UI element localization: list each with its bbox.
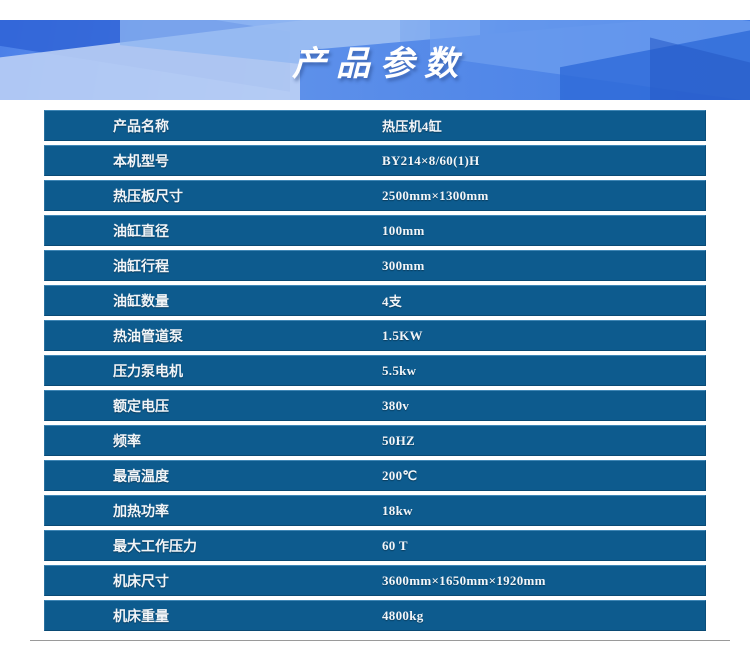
spec-label: 油缸数量 [45, 291, 370, 311]
spec-value: 1.5KW [370, 328, 705, 344]
table-row: 机床重量4800kg [44, 600, 706, 631]
spec-value: 60 T [370, 538, 705, 554]
spec-value: 2500mm×1300mm [370, 188, 705, 204]
spec-value: 4800kg [370, 608, 705, 624]
spec-value: 50HZ [370, 433, 705, 449]
table-row: 油缸行程300mm [44, 250, 706, 281]
spec-value: BY214×8/60(1)H [370, 153, 705, 169]
spec-label: 最高温度 [45, 466, 370, 486]
spec-value: 4支 [370, 291, 705, 310]
spec-value: 18kw [370, 503, 705, 519]
spec-label: 最大工作压力 [45, 536, 370, 556]
specification-table: 产品名称热压机4缸本机型号BY214×8/60(1)H热压板尺寸2500mm×1… [44, 110, 706, 635]
page-title: 产品参数 [0, 20, 750, 100]
table-row: 机床尺寸3600mm×1650mm×1920mm [44, 565, 706, 596]
table-row: 热油管道泵1.5KW [44, 320, 706, 351]
spec-value: 300mm [370, 258, 705, 274]
table-row: 本机型号BY214×8/60(1)H [44, 145, 706, 176]
spec-label: 额定电压 [45, 396, 370, 416]
spec-value: 100mm [370, 223, 705, 239]
table-row: 最高温度200℃ [44, 460, 706, 491]
spec-value: 5.5kw [370, 363, 705, 379]
spec-label: 油缸行程 [45, 256, 370, 276]
spec-value: 380v [370, 398, 705, 414]
spec-label: 加热功率 [45, 501, 370, 521]
table-row: 压力泵电机5.5kw [44, 355, 706, 386]
spec-label: 热油管道泵 [45, 326, 370, 346]
bottom-divider [30, 640, 730, 641]
page-banner: 产品参数 [0, 20, 750, 100]
table-row: 加热功率18kw [44, 495, 706, 526]
spec-label: 热压板尺寸 [45, 186, 370, 206]
product-parameters-page: 产品参数 产品名称热压机4缸本机型号BY214×8/60(1)H热压板尺寸250… [0, 0, 750, 649]
table-row: 频率50HZ [44, 425, 706, 456]
spec-label: 油缸直径 [45, 221, 370, 241]
table-row: 油缸数量4支 [44, 285, 706, 316]
spec-value: 3600mm×1650mm×1920mm [370, 573, 705, 589]
table-row: 最大工作压力60 T [44, 530, 706, 561]
table-row: 热压板尺寸2500mm×1300mm [44, 180, 706, 211]
spec-label: 本机型号 [45, 151, 370, 171]
spec-label: 机床尺寸 [45, 571, 370, 591]
table-row: 额定电压380v [44, 390, 706, 421]
table-row: 产品名称热压机4缸 [44, 110, 706, 141]
spec-label: 频率 [45, 431, 370, 451]
spec-label: 压力泵电机 [45, 361, 370, 381]
spec-label: 机床重量 [45, 606, 370, 626]
spec-value: 热压机4缸 [370, 116, 705, 135]
table-row: 油缸直径100mm [44, 215, 706, 246]
spec-value: 200℃ [370, 468, 705, 484]
spec-label: 产品名称 [45, 116, 370, 136]
